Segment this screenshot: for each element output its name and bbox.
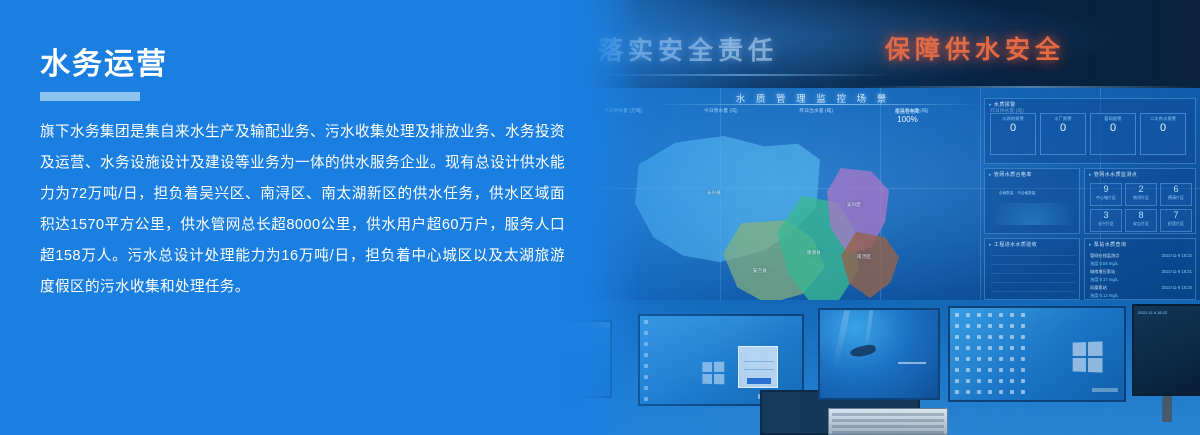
monitor-point-label: 安吉片区 — [1126, 221, 1156, 227]
alarm-card-value: 0 — [1091, 122, 1135, 135]
video-wall: 水 质 管 理 监 控 场 景 今日供水量 (万吨) 今日原水量 (吨) 昨日出… — [560, 88, 1200, 313]
monitor-point-label: 德清片区 — [1161, 195, 1191, 201]
control-room-photo: 落实安全责任 保障供水安全 水 质 管 理 监 控 场 景 今日供水量 (万吨)… — [560, 0, 1200, 435]
alarm-card[interactable]: 管网报警 0 — [1090, 113, 1136, 155]
kpi-pass-rate-value: 100% — [895, 115, 920, 124]
map-label-nanxun: 南浔区 — [857, 254, 871, 260]
wallpaper-caption — [898, 362, 926, 364]
log-metric: 浊度 0.04 mg/L — [1087, 260, 1195, 268]
operator-desk: 2022-11-9 18:22 — [560, 300, 1200, 435]
panel-project-check[interactable]: 工程进水水质验收 — [984, 238, 1080, 300]
keyboard[interactable] — [828, 408, 948, 435]
log-name: 管网在线监测点 — [1090, 253, 1119, 258]
monitor-point-card[interactable]: 7织里片区 — [1160, 209, 1192, 232]
monitor-underwater[interactable] — [818, 308, 940, 400]
title-underline-bar — [40, 92, 140, 101]
kpi-item: 今日原水量 (吨) — [704, 108, 738, 124]
desktop-watermark — [1092, 388, 1118, 392]
log-row[interactable]: 2022-11-9 18:21 城南增压泵站 — [1087, 268, 1195, 276]
monitor-point-label: 中心城片区 — [1091, 195, 1121, 201]
monitor-screen — [560, 322, 610, 396]
project-check-list — [991, 255, 1075, 295]
log-metric-value: 浊度 0.17 mg/L — [1090, 277, 1118, 282]
monitor-windows-desktop[interactable] — [948, 306, 1126, 402]
windows-logo-icon — [702, 362, 724, 385]
log-row[interactable]: 2022-11-9 18:22 管网在线监测点 — [1087, 252, 1195, 260]
region-map: 长兴县 安吉县 德清县 吴兴区 南浔区 — [635, 128, 905, 308]
keyboard-row — [832, 431, 944, 434]
monitor-right-dark[interactable]: 2022-11-9 18:22 — [1132, 304, 1200, 396]
map-label-changxing: 长兴县 — [707, 190, 721, 196]
monitor-point-label: 织里片区 — [1161, 221, 1191, 227]
window-titlebar — [560, 322, 610, 328]
panel-title-station-query: 泵站水质查询 — [1085, 239, 1195, 250]
log-time: 2022-11-9 18:20 — [1162, 285, 1192, 290]
map-label-wuxing: 吴兴区 — [847, 202, 861, 208]
timestamp-overlay: 2022-11-9 18:22 — [1138, 310, 1167, 315]
monitor-point-value: 8 — [1126, 210, 1156, 221]
kpi-item: 昨日出水量 (吨) — [800, 108, 834, 124]
alarm-card[interactable]: 水源地报警 0 — [990, 113, 1036, 155]
keyboard-row — [832, 419, 944, 422]
panel-title-pass-rate: 管网水质合格率 — [985, 169, 1079, 180]
monitor-point-card[interactable]: 6德清片区 — [1160, 183, 1192, 206]
alarm-card-value: 0 — [991, 122, 1035, 135]
dialog-field-2[interactable] — [744, 369, 774, 370]
desktop-icon-column[interactable] — [644, 320, 648, 406]
monitor-point-label: 长兴片区 — [1091, 221, 1121, 227]
pass-rate-gauge — [995, 203, 1071, 225]
monitor-point-value: 9 — [1091, 184, 1121, 195]
kpi-label: 今日供水量 (万吨) — [604, 108, 643, 113]
page-title: 水务运营 — [40, 48, 580, 81]
log-time: 2022-11-9 18:22 — [1162, 253, 1192, 258]
log-name: 凤凰泵站 — [1090, 285, 1107, 290]
monitor-point-card[interactable]: 2南浔片区 — [1125, 183, 1157, 206]
panel-water-quality-alarm[interactable]: 水质报警 水源地报警 0 水厂报警 0 管网报警 0 二次供 — [984, 98, 1196, 164]
log-name: 城南增压泵站 — [1090, 269, 1115, 274]
monitor-point-label: 南浔片区 — [1126, 195, 1156, 201]
kpi-row: 今日供水量 (万吨) 今日原水量 (吨) 昨日出水量 (吨) 今日用水量 (吨)… — [604, 108, 1024, 124]
kpi-label: 今日原水量 (吨) — [704, 108, 738, 113]
monitor-point-card[interactable]: 9中心城片区 — [1090, 183, 1122, 206]
log-metric-value: 浊度 0.04 mg/L — [1090, 261, 1118, 266]
desktop-icon-grid[interactable] — [955, 313, 1030, 399]
monitor-point-value: 3 — [1091, 210, 1121, 221]
map-label-deqing: 德清县 — [807, 250, 821, 256]
desk-speaker — [1162, 396, 1172, 422]
log-metric: 浊度 0.17 mg/L — [1087, 276, 1195, 284]
water-operations-banner: 水务运营 旗下水务集团是集自来水生产及输配业务、污水收集处理及排放业务、水务投资… — [0, 0, 1200, 435]
panel-monitor-points[interactable]: 管网水水质监测点 9中心城片区 2南浔片区 6德清片区 3长兴片区 8安吉片区 … — [1084, 168, 1196, 234]
alarm-card-value: 0 — [1141, 122, 1185, 135]
wall-title: 水 质 管 理 监 控 场 景 — [678, 91, 948, 105]
panel-pass-rate[interactable]: 管网水质合格率 合格数量 不合格数量 — [984, 168, 1080, 234]
panel-station-query[interactable]: 泵站水质查询 2022-11-9 18:22 管网在线监测点 浊度 0.04 m… — [1084, 238, 1196, 300]
windows-logo-icon — [1073, 341, 1103, 372]
monitor-point-card[interactable]: 8安吉片区 — [1125, 209, 1157, 232]
login-dialog[interactable] — [738, 346, 778, 388]
legend-unqualified: 不合格数量 — [1017, 191, 1035, 195]
keyboard-row — [832, 413, 944, 416]
left-content-panel: 水务运营 旗下水务集团是集自来水生产及输配业务、污水收集处理及排放业务、水务投资… — [40, 48, 580, 303]
monitor-point-value: 7 — [1161, 210, 1191, 221]
panel-title-project-check: 工程进水水质验收 — [985, 239, 1079, 250]
panel-title-monitor-points: 管网水水质监测点 — [1085, 169, 1195, 180]
alarm-card[interactable]: 水厂报警 0 — [1040, 113, 1086, 155]
log-row[interactable]: 2022-11-9 18:20 凤凰泵站 — [1087, 284, 1195, 292]
slogan-safety-responsibility: 落实安全责任 — [598, 31, 778, 67]
dialog-submit-button[interactable] — [747, 378, 771, 384]
body-description: 旗下水务集团是集自来水生产及输配业务、污水收集处理及排放业务、水务投资及运营、水… — [40, 117, 565, 303]
kpi-label: 昨日出水量 (吨) — [800, 108, 834, 113]
monitor-point-card[interactable]: 3长兴片区 — [1090, 209, 1122, 232]
keyboard-row — [832, 425, 944, 428]
alarm-card[interactable]: 二次供水报警 0 — [1140, 113, 1186, 155]
log-time: 2022-11-9 18:21 — [1162, 269, 1192, 274]
monitor-far-left[interactable] — [560, 320, 612, 398]
log-metric: 浊度 0.12 mg/L — [1087, 292, 1195, 300]
panel-title-alarm: 水质报警 — [985, 99, 1195, 110]
kpi-item: 今日供水量 (万吨) — [604, 108, 643, 124]
ceiling-light-strip — [590, 74, 890, 76]
alarm-card-value: 0 — [1041, 122, 1085, 135]
log-metric-value: 浊度 0.12 mg/L — [1090, 293, 1118, 298]
slogan-water-safety: 保障供水安全 — [885, 30, 1065, 66]
dialog-field-1[interactable] — [744, 361, 774, 362]
monitor-point-value: 6 — [1161, 184, 1191, 195]
wall-title-divider — [650, 104, 980, 105]
legend-qualified: 合格数量 — [999, 191, 1013, 195]
monitor-point-value: 2 — [1126, 184, 1156, 195]
kpi-pass-rate: 覆盖合格率 100% — [895, 108, 920, 124]
monitor-screen — [1134, 306, 1200, 394]
map-label-anji: 安吉县 — [753, 268, 767, 274]
